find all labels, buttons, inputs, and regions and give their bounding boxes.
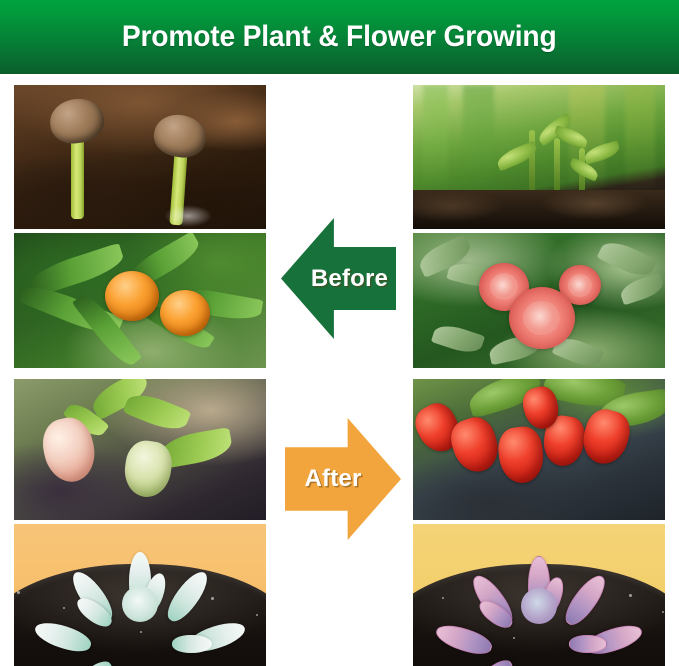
page-title: Promote Plant & Flower Growing [122,20,557,54]
root-fuzz [164,205,212,227]
seed-husk [151,111,210,161]
seed-husk [47,95,107,146]
ripe-strawberry-photo [413,379,665,520]
background-foliage [423,85,448,192]
before-arrow-label: Before [311,265,388,293]
before-image-flower-buds [14,233,266,368]
orange-flower-bud [160,290,210,336]
background-foliage [463,85,493,192]
after-image-purple-succulent [413,524,665,666]
rose-leaf [597,235,658,281]
before-image-unripe-strawberries [14,379,266,520]
soil-bed [413,190,665,229]
unripe-strawberry-photo [14,379,266,520]
after-image-pink-roses [413,233,665,368]
after-image-ripe-strawberries [413,379,665,520]
unripe-strawberry [121,438,174,500]
ripe-strawberry [496,425,546,485]
after-arrow: After [285,418,401,540]
comparison-grid [0,74,679,666]
seed-sprout-photo [14,85,266,229]
rose-leaf [431,320,485,356]
sprout-stem [71,137,84,219]
flower-bud-photo [14,233,266,368]
succulent-core [122,586,158,622]
before-image-pale-succulent [14,524,266,666]
purple-succulent-photo [413,524,665,666]
pink-rose-photo [413,233,665,368]
pink-rose [509,287,575,349]
seedling-stem [554,138,560,192]
background-foliage [625,85,655,192]
rose-leaf [618,273,665,306]
before-image-seed-sprouts [14,85,266,229]
after-arrow-label: After [304,465,361,493]
seedling-stem [529,130,535,192]
pale-succulent-photo [14,524,266,666]
before-arrow: Before [281,218,396,339]
after-image-green-seedlings [413,85,665,229]
orange-flower-bud [105,271,159,321]
header-banner: Promote Plant & Flower Growing [0,0,679,74]
green-seedling-photo [413,85,665,229]
